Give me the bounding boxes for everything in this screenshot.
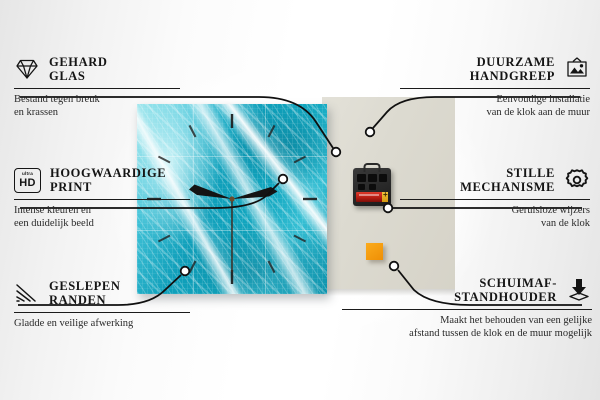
wire-node-bottom-left (181, 267, 190, 276)
feature-description: Bestand tegen breuk en krassen (14, 94, 180, 119)
beveled-edges-icon (14, 280, 40, 306)
feature-title: HOOGWAARDIGE PRINT (50, 166, 166, 194)
ultra-hd-icon-small-text: ultra (22, 171, 33, 176)
diamond-icon (14, 56, 40, 82)
feature-title: GEHARD GLAS (49, 55, 107, 83)
feature-schuimaf-standhouder: SCHUIMAF- STANDHOUDER Maakt het behouden… (342, 276, 592, 341)
wire-node-middle-right (384, 204, 393, 213)
ultra-hd-icon-large-text: HD (19, 177, 36, 189)
wire-node-middle-left (279, 175, 288, 184)
wire-node-top-right (366, 128, 375, 137)
feature-description: Eenvoudige installatie van de klok aan d… (400, 94, 590, 119)
feature-header: SCHUIMAF- STANDHOUDER (342, 276, 592, 304)
feature-divider (14, 312, 190, 313)
feature-divider (400, 199, 590, 200)
feature-description: Maakt het behouden van een gelijke afsta… (342, 315, 592, 340)
feature-divider (342, 309, 592, 310)
ultra-hd-icon: ultra HD (14, 168, 41, 193)
wire-node-bottom-right (390, 262, 399, 271)
feature-stille-mechanisme: STILLE MECHANISME Geruisloze wijzers van… (400, 166, 590, 231)
feature-header: STILLE MECHANISME (400, 166, 590, 194)
feature-hoogwaardige-print: ultra HD HOOGWAARDIGE PRINT Intense kleu… (14, 166, 190, 231)
hanging-picture-icon (564, 56, 590, 82)
feature-divider (14, 88, 180, 89)
feature-divider (14, 199, 190, 200)
feature-title: GESLEPEN RANDEN (49, 279, 121, 307)
feature-description: Intense kleuren en een duidelijk beeld (14, 205, 190, 230)
press-down-icon (566, 277, 592, 303)
wire-node-top-left (332, 148, 341, 157)
feature-title: DUURZAME HANDGREEP (470, 55, 555, 83)
feature-geslepen-randen: GESLEPEN RANDEN Gladde en veilige afwerk… (14, 279, 190, 331)
feature-divider (400, 88, 590, 89)
feature-header: GEHARD GLAS (14, 55, 180, 83)
infographic-canvas: GEHARD GLAS Bestand tegen breuk en krass… (0, 0, 600, 400)
feature-header: GESLEPEN RANDEN (14, 279, 190, 307)
feature-duurzame-handgreep: DUURZAME HANDGREEP Eenvoudige installati… (400, 55, 590, 120)
feature-gehard-glas: GEHARD GLAS Bestand tegen breuk en krass… (14, 55, 180, 120)
feature-header: DUURZAME HANDGREEP (400, 55, 590, 83)
feature-title: SCHUIMAF- STANDHOUDER (454, 276, 557, 304)
feature-description: Gladde en veilige afwerking (14, 318, 190, 331)
feature-title: STILLE MECHANISME (460, 166, 555, 194)
feature-header: ultra HD HOOGWAARDIGE PRINT (14, 166, 190, 194)
feature-description: Geruisloze wijzers van de klok (400, 205, 590, 230)
gear-icon (564, 167, 590, 193)
